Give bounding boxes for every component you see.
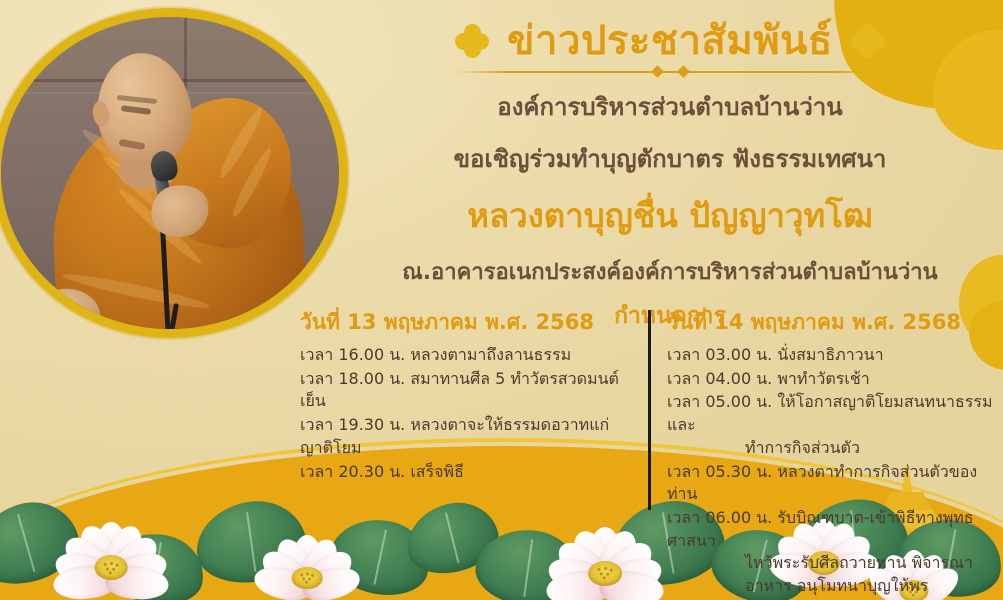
list-item: เวลา 16.00 น. หลวงตามาถึงลานธรรม xyxy=(300,344,634,367)
list-item: เวลา 05.30 น. หลวงตาทำการกิจส่วนตัวของท่… xyxy=(667,461,1000,506)
list-item: เวลา 05.00 น. ให้โอกาสญาติโยมสนทนาธรรมแล… xyxy=(667,391,1000,459)
diamond-ornament-icon xyxy=(651,65,664,78)
list-item: เวลา 19.30 น. หลวงตาจะให้ธรรมดอวาทแก่ญาต… xyxy=(300,414,634,459)
lotus-flower xyxy=(248,502,366,600)
schedule-item-text: เวลา 05.30 น. หลวงตาทำการกิจส่วนตัวของท่… xyxy=(667,462,977,504)
page-title: ข่าวประชาสัมพันธ์ xyxy=(507,18,833,64)
schedule-list-day1: เวลา 16.00 น. หลวงตามาถึงลานธรรม เวลา 18… xyxy=(300,344,634,483)
organization-name: องค์การบริหารส่วนตำบลบ้านว่าน xyxy=(360,87,980,126)
schedule-item-text: เวลา 06.00 น. รับบิณฑบาต-เข้าพิธีทางพุทธ… xyxy=(667,508,974,550)
title-divider-rule xyxy=(455,66,885,78)
schedule-item-text: เวลา 20.30 น. เสร็จพิธี xyxy=(300,462,464,481)
monk-name: หลวงตาบุญชื่น ปัญญาวุทโฒ xyxy=(360,189,980,242)
schedule-section: วันที่ 13 พฤษภาคม พ.ศ. 2568 เวลา 16.00 น… xyxy=(300,306,1000,516)
lotus-flower xyxy=(48,486,174,598)
schedule-item-text: เวลา 03.00 น. นั่งสมาธิภาวนา xyxy=(667,345,884,364)
day-title: วันที่ 14 พฤษภาคม พ.ศ. 2568 xyxy=(667,306,1000,339)
schedule-item-text: เวลา 16.00 น. หลวงตามาถึงลานธรรม xyxy=(300,345,571,364)
schedule-item-text: เวลา 04.00 น. พาทำวัตรเช้า xyxy=(667,369,870,388)
list-item: เวลา 06.00 น. รับบิณฑบาต-เข้าพิธีทางพุทธ… xyxy=(667,507,1000,598)
list-item: เวลา 18.00 น. สมาทานศีล 5 ทำวัตรสวดมนต์เ… xyxy=(300,368,634,413)
list-item: เวลา 20.30 น. เสร็จพิธี xyxy=(300,461,634,484)
rule-line xyxy=(455,71,885,73)
diamond-ornament-icon xyxy=(677,65,690,78)
schedule-item-continuation: ไหว้พระรับศีลถวายทาน พิจารณา อาหาร อนุโม… xyxy=(667,552,1000,597)
venue-line: ณ.อาคารอเนกประสงค์องค์การบริหารส่วนตำบลบ… xyxy=(360,254,980,289)
lotus-core xyxy=(95,555,128,580)
four-petal-flower-icon xyxy=(455,24,489,58)
header-block: ข่าวประชาสัมพันธ์ องค์การบริหารส่วนตำบลบ… xyxy=(360,18,980,334)
lotus-core xyxy=(588,561,622,586)
list-item: เวลา 03.00 น. นั่งสมาธิภาวนา xyxy=(667,344,1000,367)
four-petal-flower-icon xyxy=(851,24,885,58)
schedule-list-day2: เวลา 03.00 น. นั่งสมาธิภาวนา เวลา 04.00 … xyxy=(667,344,1000,598)
monk-photo xyxy=(0,8,348,338)
lotus-petals xyxy=(48,486,174,598)
schedule-item-continuation: ทำการกิจส่วนตัว xyxy=(667,437,1000,460)
invitation-line: ขอเชิญร่วมทำบุญตักบาตร ฟังธรรมเทศนา xyxy=(360,139,980,178)
schedule-item-text: เวลา 19.30 น. หลวงตาจะให้ธรรมดอวาทแก่ญาต… xyxy=(300,415,609,457)
monk-photo-frame xyxy=(0,8,348,338)
lotus-petals xyxy=(248,502,366,600)
schedule-column-day1: วันที่ 13 พฤษภาคม พ.ศ. 2568 เวลา 16.00 น… xyxy=(300,306,648,516)
list-item: เวลา 04.00 น. พาทำวัตรเช้า xyxy=(667,368,1000,391)
schedule-item-text: เวลา 05.00 น. ให้โอกาสญาติโยมสนทนาธรรมแล… xyxy=(667,392,993,434)
lotus-core xyxy=(292,567,323,590)
poster-canvas: ข่าวประชาสัมพันธ์ องค์การบริหารส่วนตำบลบ… xyxy=(0,0,1003,600)
title-row: ข่าวประชาสัมพันธ์ xyxy=(360,18,980,64)
schedule-item-text: เวลา 18.00 น. สมาทานศีล 5 ทำวัตรสวดมนต์เ… xyxy=(300,369,619,411)
schedule-column-day2: วันที่ 14 พฤษภาคม พ.ศ. 2568 เวลา 03.00 น… xyxy=(651,306,1000,516)
day-title: วันที่ 13 พฤษภาคม พ.ศ. 2568 xyxy=(300,306,634,339)
